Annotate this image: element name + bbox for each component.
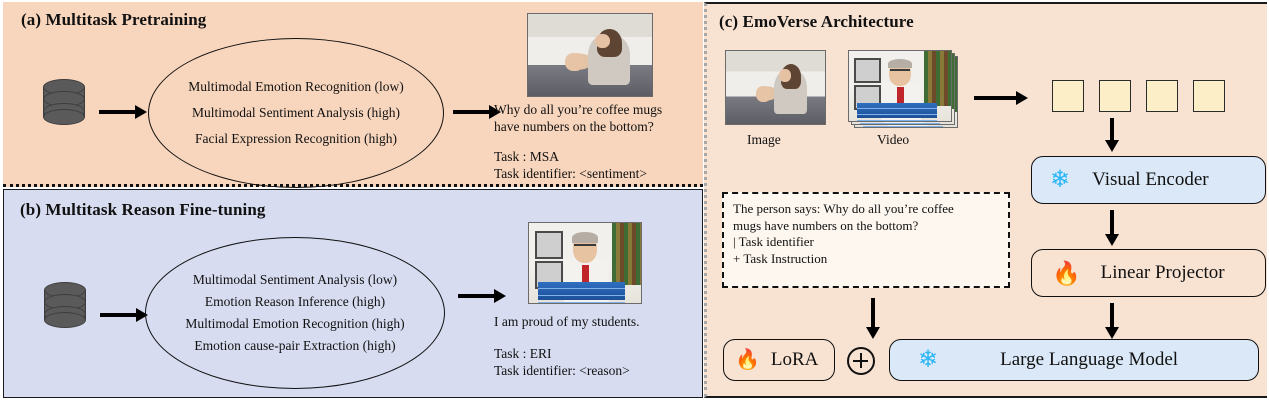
input-image-label: Image [747,132,781,148]
input-video-label: Video [877,132,909,148]
task-item: Emotion cause-pair Extraction (high) [194,339,395,353]
visual-token [1193,80,1225,112]
arrow-db-to-tasks-b [100,313,138,317]
output-thumbnail-a [527,13,653,97]
prompt-line-1: The person says: Why do all you’re coffe… [733,201,1000,218]
panel-multitask-pretraining: (a) Multitask Pretraining Multimodal Emo… [3,2,703,187]
task-item: Multimodal Sentiment Analysis (high) [192,106,400,120]
panel-c-title: (c) EmoVerse Architecture [719,12,914,32]
prompt-text-box: The person says: Why do all you’re coffe… [722,192,1010,288]
utterance-line-1: Why do all you’re coffee mugs [494,101,699,118]
arrow-prompt-to-llm [871,298,875,329]
flame-icon: 🔥 [735,350,760,370]
output-utterance-a: Why do all you’re coffee mugs have numbe… [494,101,699,135]
task-name: Task : ERI [494,345,699,362]
panel-b-title: (b) Multitask Reason Fine-tuning [20,200,265,220]
task-item: Facial Expression Recognition (high) [195,132,397,146]
task-identifier: Task identifier: <reason> [494,362,699,379]
arrow-inputs-to-tokens [974,96,1018,100]
arrow-encoder-to-projector [1110,210,1114,236]
module-label: Linear Projector [1101,262,1225,284]
arrow-tasks-to-output-a [453,110,491,114]
snowflake-icon: ❄ [918,348,938,372]
task-identifier: Task identifier: <sentiment> [494,165,699,182]
figure-root: (a) Multitask Pretraining Multimodal Emo… [0,0,1269,400]
module-label: Visual Encoder [1092,169,1209,191]
arrow-tokens-to-encoder [1110,118,1114,142]
task-ellipse-a: Multimodal Emotion Recognition (low) Mul… [148,38,444,188]
module-linear-projector[interactable]: 🔥 Linear Projector [1031,249,1266,297]
task-item: Multimodal Sentiment Analysis (low) [193,273,397,287]
prompt-line-3: | Task identifier [733,234,1000,251]
visual-token [1099,80,1131,112]
task-item: Emotion Reason Inference (high) [205,295,385,309]
utterance-line-1: I am proud of my students. [494,313,699,330]
task-item: Multimodal Emotion Recognition (high) [185,317,404,331]
module-visual-encoder[interactable]: ❄ Visual Encoder [1031,156,1266,204]
module-label: Large Language Model [1000,349,1178,371]
prompt-line-2: mugs have numbers on the bottom? [733,218,1000,235]
arrow-tasks-to-output-b [458,294,496,298]
input-image-thumbnail [725,50,826,125]
arrow-projector-to-llm [1110,303,1114,329]
task-name: Task : MSA [494,148,699,165]
output-utterance-b: I am proud of my students. [494,313,699,330]
plus-circle-icon [847,347,875,375]
task-item: Multimodal Emotion Recognition (low) [188,80,404,94]
output-meta-a: Task : MSA Task identifier: <sentiment> [494,148,699,182]
output-meta-b: Task : ERI Task identifier: <reason> [494,345,699,379]
visual-token [1052,80,1084,112]
database-icon [43,79,85,125]
input-video-thumbnail-stack [848,50,960,130]
module-lora[interactable]: 🔥 LoRA [723,339,835,381]
arrow-db-to-tasks-a [99,110,137,114]
utterance-line-2: have numbers on the bottom? [494,118,699,135]
module-label: LoRA [771,349,819,371]
snowflake-icon: ❄ [1050,168,1070,192]
prompt-line-4: + Task Instruction [733,251,1000,268]
task-ellipse-b: Multimodal Sentiment Analysis (low) Emot… [145,237,445,389]
output-thumbnail-b [528,222,642,304]
panel-a-title: (a) Multitask Pretraining [21,10,206,30]
database-icon [44,282,86,328]
flame-icon: 🔥 [1052,262,1081,285]
visual-token [1146,80,1178,112]
module-large-language-model[interactable]: ❄ Large Language Model [889,339,1259,381]
